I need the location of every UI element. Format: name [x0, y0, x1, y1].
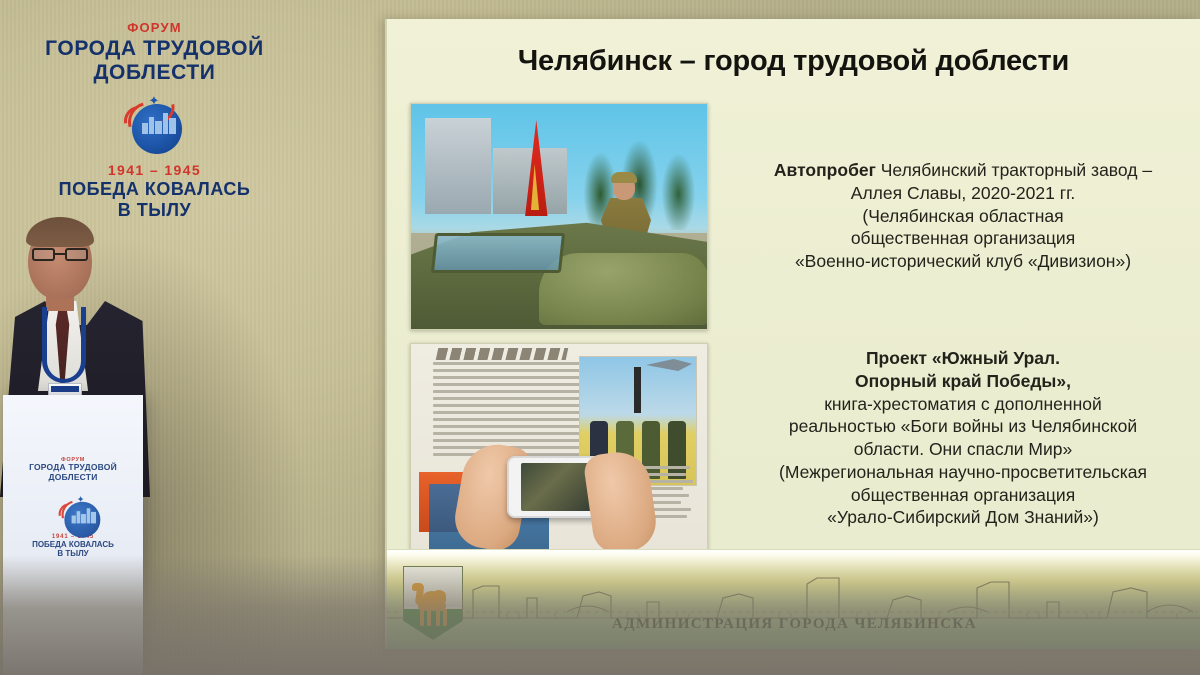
presentation-slide: Челябинск – город трудовой доблести — [385, 19, 1200, 649]
block2-line6: (Межрегиональная научно-просветительская — [779, 462, 1147, 482]
banner-motto-line1: ПОБЕДА КОВАЛАСЬ — [22, 179, 287, 200]
banner-years: 1941 – 1945 — [22, 162, 287, 178]
chelyabinsk-skyline-illustration — [387, 568, 1200, 622]
photo-book-augmented-reality-phone — [410, 343, 708, 561]
banner-title-line1: ГОРОДА ТРУДОВОЙ — [22, 37, 287, 61]
block2-line8: «Урало-Сибирский Дом Знаний») — [827, 507, 1099, 527]
photo2-page-heading — [436, 348, 569, 360]
speaker-lanyard — [42, 307, 86, 383]
photo1-windshield — [431, 233, 565, 273]
block2-line1: Проект «Южный Урал. — [866, 348, 1060, 368]
forum-globe-industry-emblem: ✦ — [122, 92, 188, 158]
photo1-vehicle-hood — [539, 253, 708, 325]
slide-footer-band: АДМИНИСТРАЦИЯ ГОРОДА ЧЕЛЯБИНСКА — [387, 549, 1200, 649]
block1-line5: «Военно-исторический клуб «Дивизион») — [795, 251, 1131, 271]
podium: ФОРУМ ГОРОДА ТРУДОВОЙ ДОБЛЕСТИ ✦ 1941 – … — [3, 395, 143, 675]
industry-skyline-icon — [72, 504, 96, 523]
slide-title: Челябинск – город трудовой доблести — [387, 19, 1200, 78]
broadcast-stage: ФОРУМ ГОРОДА ТРУДОВОЙ ДОБЛЕСТИ ✦ 1941 – … — [0, 0, 1200, 675]
text-block-autoprobeg: Автопробег Челябинский тракторный завод … — [731, 159, 1195, 273]
podium-motto-line2: В ТЫЛУ — [3, 549, 143, 558]
industry-skyline-icon — [142, 108, 176, 134]
block2-line7: общественная организация — [851, 485, 1075, 505]
slide-footer-caption: АДМИНИСТРАЦИЯ ГОРОДА ЧЕЛЯБИНСКА — [387, 616, 1200, 633]
slide-text-column: Автопробег Челябинский тракторный завод … — [725, 97, 1195, 567]
block2-line5: области. Они спасли Мир» — [854, 439, 1072, 459]
banner-title-line2: ДОБЛЕСТИ — [22, 61, 287, 85]
slide-body: Автопробег Челябинский тракторный завод … — [387, 97, 1200, 567]
podium-forum-banner: ФОРУМ ГОРОДА ТРУДОВОЙ ДОБЛЕСТИ ✦ 1941 – … — [3, 395, 143, 558]
block2-line2: Опорный край Победы», — [855, 371, 1071, 391]
block2-line3: книга-хрестоматия с дополненной — [824, 394, 1102, 414]
glasses-icon — [32, 248, 88, 261]
block1-line4: общественная организация — [851, 228, 1075, 248]
text-block-proekt-yuzhny-ural: Проект «Южный Урал. Опорный край Победы»… — [731, 347, 1195, 529]
podium-globe-industry-emblem: ✦ — [57, 493, 89, 525]
photo1-building-tall — [425, 118, 491, 214]
wall-forum-banner: ФОРУМ ГОРОДА ТРУДОВОЙ ДОБЛЕСТИ ✦ 1941 – … — [22, 20, 287, 220]
speaker-hair — [26, 217, 94, 247]
podium-motto-line1: ПОБЕДА КОВАЛАСЬ — [3, 540, 143, 549]
photo-military-vehicle-rally — [410, 103, 708, 330]
block1-line2: Аллея Славы, 2020-2021 гг. — [851, 183, 1075, 203]
block1-line1-bold: Автопробег — [774, 160, 881, 180]
spark-star-icon: ✦ — [149, 94, 160, 107]
spark-star-icon: ✦ — [77, 494, 85, 503]
podium-title-line2: ДОБЛЕСТИ — [3, 473, 143, 483]
block1-line3: (Челябинская областная — [862, 206, 1063, 226]
block1-line1-rest: Челябинский тракторный завод – — [881, 160, 1152, 180]
banner-forum-word: ФОРУМ — [22, 20, 287, 35]
block2-line4: реальностью «Боги войны из Челябинской — [789, 416, 1137, 436]
